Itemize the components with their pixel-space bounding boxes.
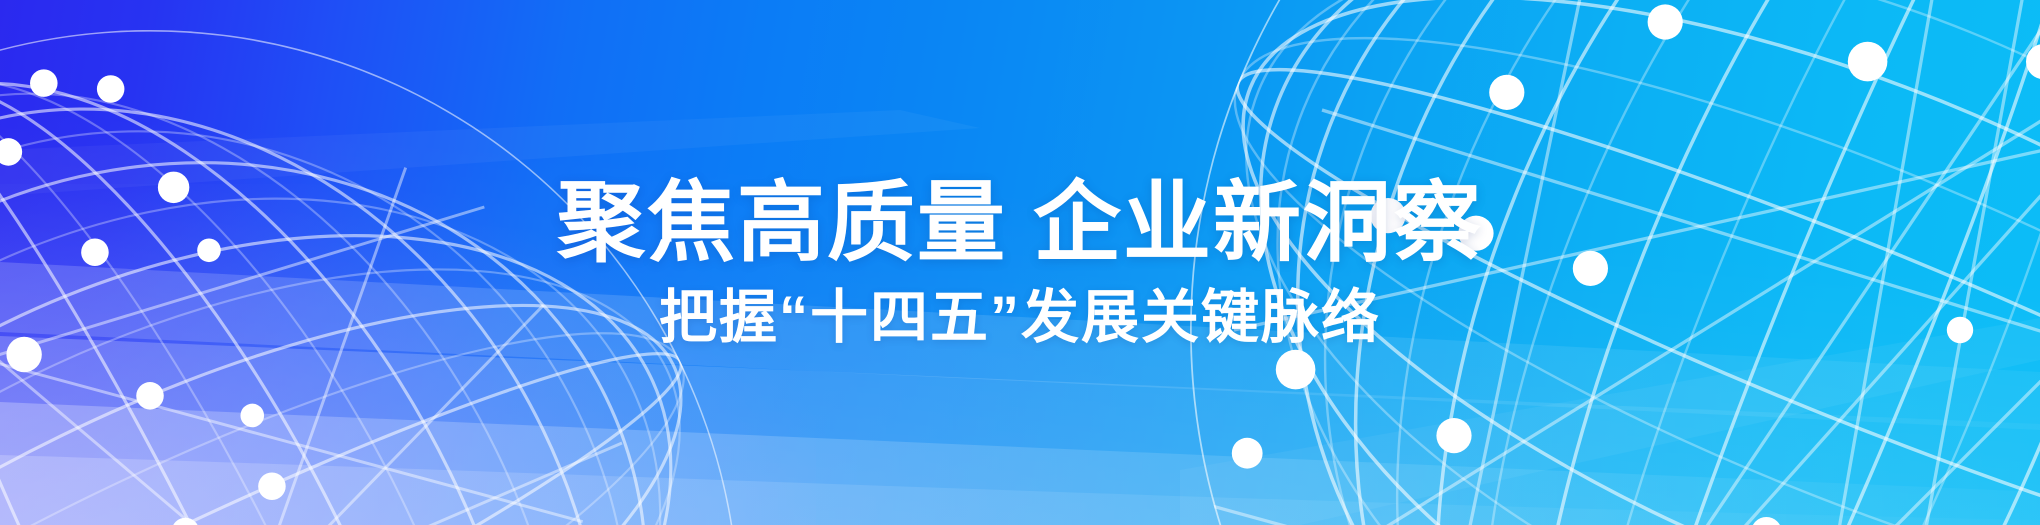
network-globe-left	[0, 30, 740, 525]
hero-banner: 聚焦高质量企业新洞察 把握“十四五”发展关键脉络	[0, 0, 2040, 525]
network-globe-right	[1190, 0, 2040, 525]
